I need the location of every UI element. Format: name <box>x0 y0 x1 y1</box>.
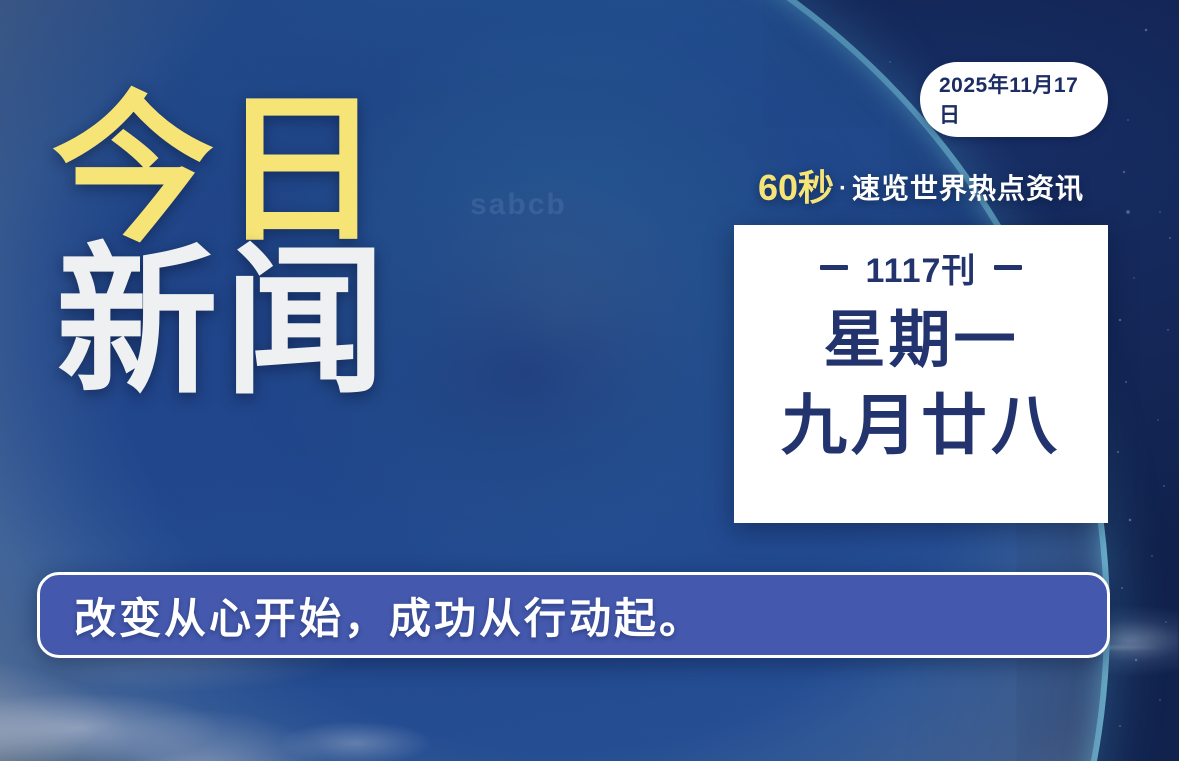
issue-number: 1117刊 <box>866 243 977 292</box>
page-title-line-1: 今日 <box>52 95 392 247</box>
slogan-banner: 改变从心开始，成功从行动起。 <box>37 572 1110 658</box>
news-poster: sabcb 今日 新闻 2025年11月17日 60秒·速览世界热点资讯 111… <box>0 0 1179 761</box>
tagline-description: 速览世界热点资讯 <box>852 173 1084 204</box>
tagline-separator-icon: · <box>834 175 852 202</box>
info-card: 1117刊 星期一 九月廿八 <box>734 225 1108 523</box>
issue-row: 1117刊 <box>820 243 1023 292</box>
lunar-date-label: 九月廿八 <box>781 392 1061 458</box>
date-badge: 2025年11月17日 <box>920 62 1108 137</box>
weekday-label: 星期一 <box>823 310 1018 372</box>
slogan-text: 改变从心开始，成功从行动起。 <box>40 585 704 646</box>
dash-right-icon <box>994 265 1022 270</box>
tagline: 60秒·速览世界热点资讯 <box>734 159 1108 211</box>
page-title-line-2: 新闻 <box>56 247 392 399</box>
page-title: 今日 新闻 <box>52 95 392 400</box>
tagline-seconds: 60秒 <box>758 167 834 208</box>
right-column: 2025年11月17日 60秒·速览世界热点资讯 1117刊 星期一 九月廿八 <box>734 62 1108 523</box>
dash-left-icon <box>820 265 848 270</box>
